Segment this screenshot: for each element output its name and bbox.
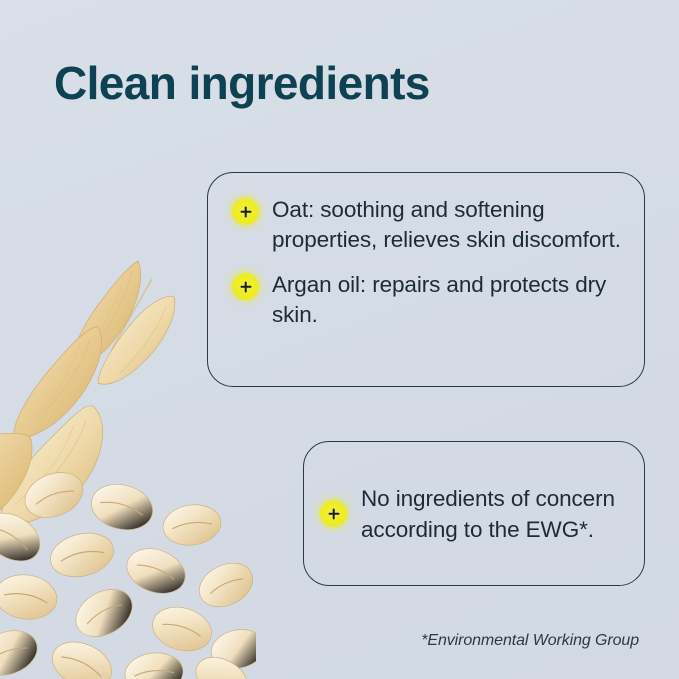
list-item-label: Argan oil: repairs and protects dry skin…	[272, 270, 622, 329]
plus-badge-icon	[320, 500, 347, 527]
list-item: No ingredients of concern according to t…	[320, 483, 628, 545]
list-item: Oat: soothing and softening properties, …	[232, 195, 622, 254]
page-title: Clean ingredients	[54, 57, 430, 110]
list-item-label: No ingredients of concern according to t…	[361, 483, 628, 545]
poster-canvas: Clean ingredients Oat: soothing and soft…	[0, 0, 679, 679]
ingredients-card: Oat: soothing and softening properties, …	[207, 172, 645, 387]
ewg-card: No ingredients of concern according to t…	[303, 441, 645, 586]
plus-badge-icon	[232, 198, 259, 225]
list-item-label: Oat: soothing and softening properties, …	[272, 195, 622, 254]
footnote: *Environmental Working Group	[421, 632, 639, 650]
list-item: Argan oil: repairs and protects dry skin…	[232, 270, 622, 329]
plus-badge-icon	[232, 273, 259, 300]
